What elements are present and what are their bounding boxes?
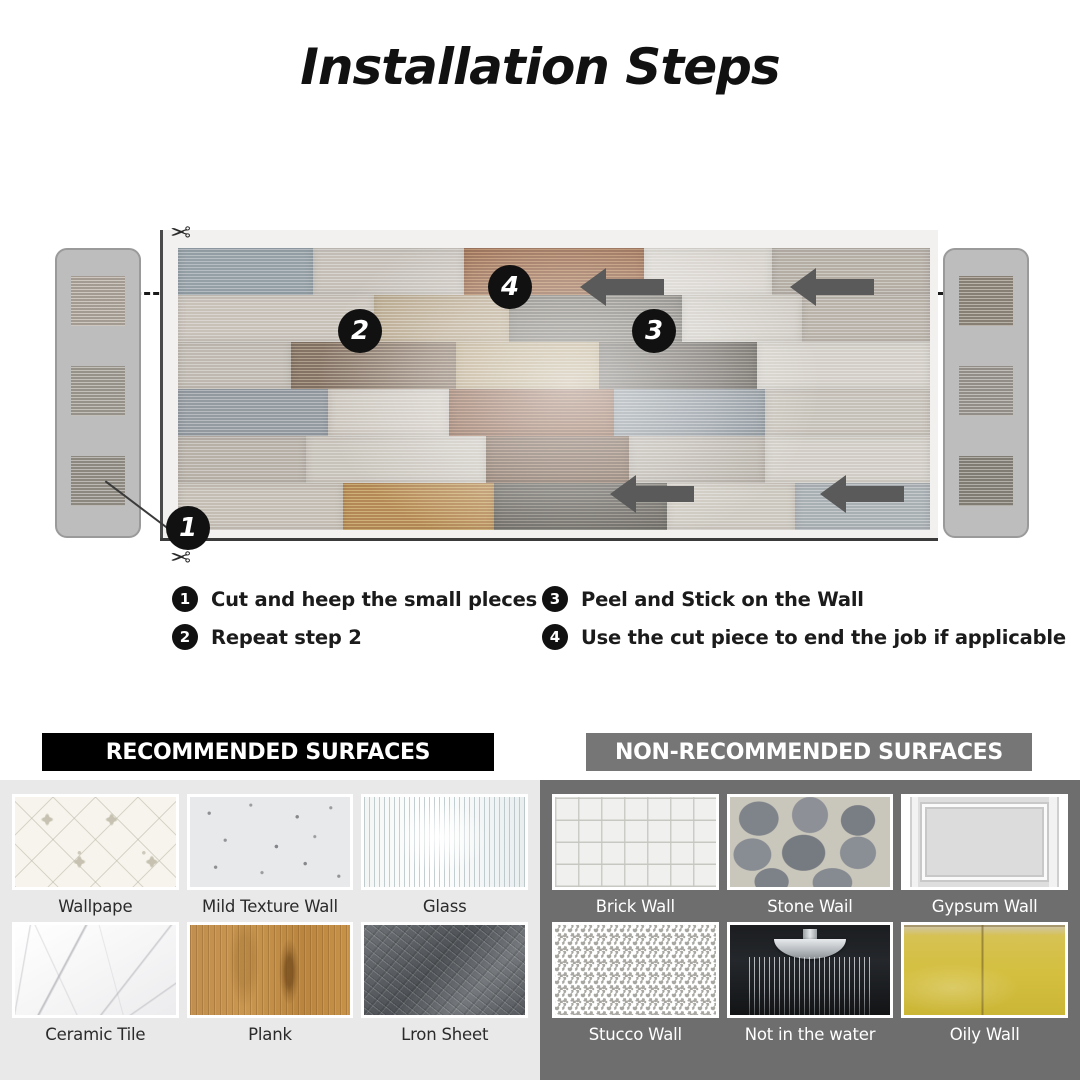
swatch — [71, 366, 125, 416]
swatch — [71, 456, 125, 506]
surface-item: Stone Wail — [727, 794, 894, 916]
surface-thumbnail — [187, 794, 354, 890]
surface-label: Stucco Wall — [589, 1025, 682, 1044]
scissors-icon: ✂ — [170, 218, 191, 248]
wall-plank — [178, 436, 306, 483]
wall-plank — [343, 483, 493, 530]
wall-plank — [456, 342, 599, 389]
step-badge-2: 2 — [338, 309, 382, 353]
surface-label: Glass — [423, 897, 467, 916]
wall-plank — [291, 342, 456, 389]
surface-item: Plank — [187, 922, 354, 1044]
recommended-panel: WallpapeMild Texture WallGlassCeramic Ti… — [0, 780, 540, 1080]
legend-badge-1: 1 — [172, 586, 198, 612]
surface-label: Plank — [248, 1025, 292, 1044]
surface-label: Mild Texture Wall — [202, 897, 338, 916]
non-recommended-panel: Brick WallStone WailGypsum WallStucco Wa… — [540, 780, 1080, 1080]
left-material-panel — [55, 248, 141, 538]
shower-head-icon — [774, 939, 846, 959]
installation-diagram: ✂ ✂ 4 2 3 1 — [0, 120, 1080, 680]
surface-label: Wallpape — [58, 897, 132, 916]
surface-thumbnail — [12, 922, 179, 1018]
swatch — [959, 276, 1013, 326]
wall-plank — [765, 389, 930, 436]
wall-plank — [682, 295, 802, 342]
surface-label: Oily Wall — [950, 1025, 1020, 1044]
step-badge-1: 1 — [166, 506, 210, 550]
wall-plank — [306, 436, 486, 483]
right-material-panel — [943, 248, 1029, 538]
recommended-banner: RECOMMENDED SURFACES — [42, 733, 494, 771]
plank-wall — [178, 248, 930, 530]
surface-item: Gypsum Wall — [901, 794, 1068, 916]
swatch — [71, 276, 125, 326]
surface-label: Lron Sheet — [401, 1025, 488, 1044]
surface-label: Gypsum Wall — [932, 897, 1038, 916]
wall-frame — [160, 230, 938, 538]
surface-label: Not in the water — [745, 1025, 876, 1044]
surface-item: Wallpape — [12, 794, 179, 916]
surface-thumbnail — [361, 794, 528, 890]
page-title: Installation Steps — [0, 38, 1080, 96]
wall-plank — [374, 295, 509, 342]
surface-item: Glass — [361, 794, 528, 916]
wall-plank — [178, 248, 313, 295]
surface-item: Not in the water — [727, 922, 894, 1044]
legend-badge-3: 3 — [542, 586, 568, 612]
wall-plank — [178, 342, 291, 389]
wall-arrow-top — [578, 266, 666, 308]
wall-plank — [599, 342, 757, 389]
surface-label: Ceramic Tile — [45, 1025, 145, 1044]
wall-plank — [328, 389, 448, 436]
wall-plank — [178, 389, 328, 436]
legend-item-4: 4 Use the cut piece to end the job if ap… — [542, 624, 1066, 650]
water-drops — [749, 957, 871, 1015]
legend-item-3: 3 Peel and Stick on the Wall — [542, 586, 864, 612]
surface-thumbnail — [727, 794, 894, 890]
legend-badge-2: 2 — [172, 624, 198, 650]
surface-thumbnail — [12, 794, 179, 890]
surface-thumbnail — [361, 922, 528, 1018]
wall-bottom-edge — [160, 538, 938, 541]
swatch — [959, 366, 1013, 416]
surface-item: Stucco Wall — [552, 922, 719, 1044]
wall-plank — [449, 389, 614, 436]
surface-item: Oily Wall — [901, 922, 1068, 1044]
wall-arrow-upper-right — [788, 266, 876, 308]
surface-thumbnail — [727, 922, 894, 1018]
surface-thumbnail — [552, 794, 719, 890]
surface-thumbnail — [187, 922, 354, 1018]
legend-text-1: Cut and heep the small pleces — [211, 588, 537, 611]
surface-thumbnail — [552, 922, 719, 1018]
surface-item: Ceramic Tile — [12, 922, 179, 1044]
wall-plank — [313, 248, 463, 295]
legend-item-1: 1 Cut and heep the small pleces — [172, 586, 537, 612]
step-badge-3: 3 — [632, 309, 676, 353]
wall-plank — [614, 389, 764, 436]
surface-thumbnail — [901, 922, 1068, 1018]
wall-arrow-bottom-right — [818, 473, 906, 515]
wall-arrow-bottom-left — [608, 473, 696, 515]
wall-plank — [757, 342, 930, 389]
surface-item: Mild Texture Wall — [187, 794, 354, 916]
swatch — [959, 456, 1013, 506]
legend-item-2: 2 Repeat step 2 — [172, 624, 362, 650]
surface-thumbnail — [901, 794, 1068, 890]
legend-text-3: Peel and Stick on the Wall — [581, 588, 864, 611]
legend-badge-4: 4 — [542, 624, 568, 650]
surface-item: Brick Wall — [552, 794, 719, 916]
step-badge-4: 4 — [488, 265, 532, 309]
non-recommended-banner: NON-RECOMMENDED SURFACES — [586, 733, 1032, 771]
legend-text-4: Use the cut piece to end the job if appl… — [581, 626, 1066, 649]
surface-label: Stone Wail — [767, 897, 852, 916]
legend-text-2: Repeat step 2 — [211, 626, 362, 649]
surface-label: Brick Wall — [596, 897, 675, 916]
surfaces-section: RECOMMENDED SURFACES NON-RECOMMENDED SUR… — [0, 700, 1080, 1080]
infographic-page: Installation Steps — [0, 0, 1080, 1080]
surface-item: Lron Sheet — [361, 922, 528, 1044]
